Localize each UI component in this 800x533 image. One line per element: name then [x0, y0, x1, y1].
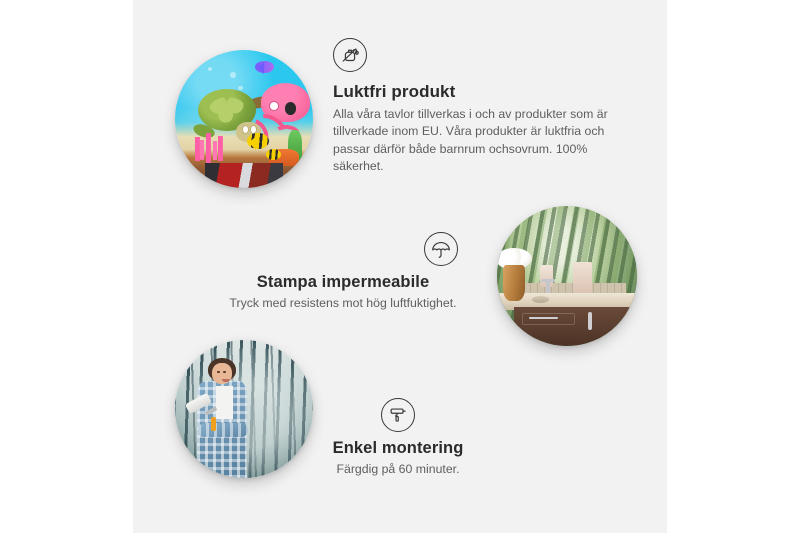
bubble-icon [208, 67, 212, 71]
underwater-scene-art [175, 50, 313, 188]
installer-forest-circle [175, 340, 313, 478]
promo-canvas: Luktfri produkt Alla våra tavlor tillver… [0, 0, 800, 533]
scene-foreground-strip [205, 163, 282, 188]
bathroom-wallpaper-circle [497, 206, 637, 346]
white-tshirt [216, 386, 233, 419]
cabinet-handle [588, 312, 592, 331]
no-fragrance-icon [333, 38, 367, 72]
paint-roller-icon [381, 398, 415, 432]
drawer-handle [529, 317, 557, 319]
gold-vase [503, 265, 525, 301]
feature-odour-free: Luktfri produkt Alla våra tavlor tillver… [333, 38, 625, 176]
crossed-arms [198, 423, 248, 437]
underwater-cartoon-circle [175, 50, 313, 188]
feature-body: Alla våra tavlor tillverkas i och av pro… [333, 106, 625, 176]
feature-title: Stampa impermeabile [222, 273, 464, 292]
bubble-icon [230, 72, 236, 78]
paint-roller-handle [211, 417, 217, 431]
striped-fish-icon [247, 133, 269, 150]
feature-title: Enkel montering [325, 439, 471, 458]
feature-waterproof: Stampa impermeabile Tryck med resistens … [222, 232, 464, 312]
feature-body: Tryck med resistens mot hög luftfuktighe… [222, 295, 464, 312]
purple-fish-icon [255, 61, 274, 73]
wooden-vanity [514, 307, 637, 346]
forest-scene-art [175, 340, 313, 478]
feature-body: Färgdig på 60 minuter. [325, 461, 471, 478]
feature-icon-wrap [325, 398, 471, 432]
feature-icon-wrap [417, 232, 464, 266]
feature-title: Luktfri produkt [333, 82, 625, 102]
soap-dish [532, 296, 549, 303]
bubble-icon [238, 86, 242, 90]
umbrella-icon [424, 232, 458, 266]
bathroom-scene-art [497, 206, 637, 346]
feature-easy-mounting: Enkel montering Färgdig på 60 minuter. [325, 398, 471, 478]
